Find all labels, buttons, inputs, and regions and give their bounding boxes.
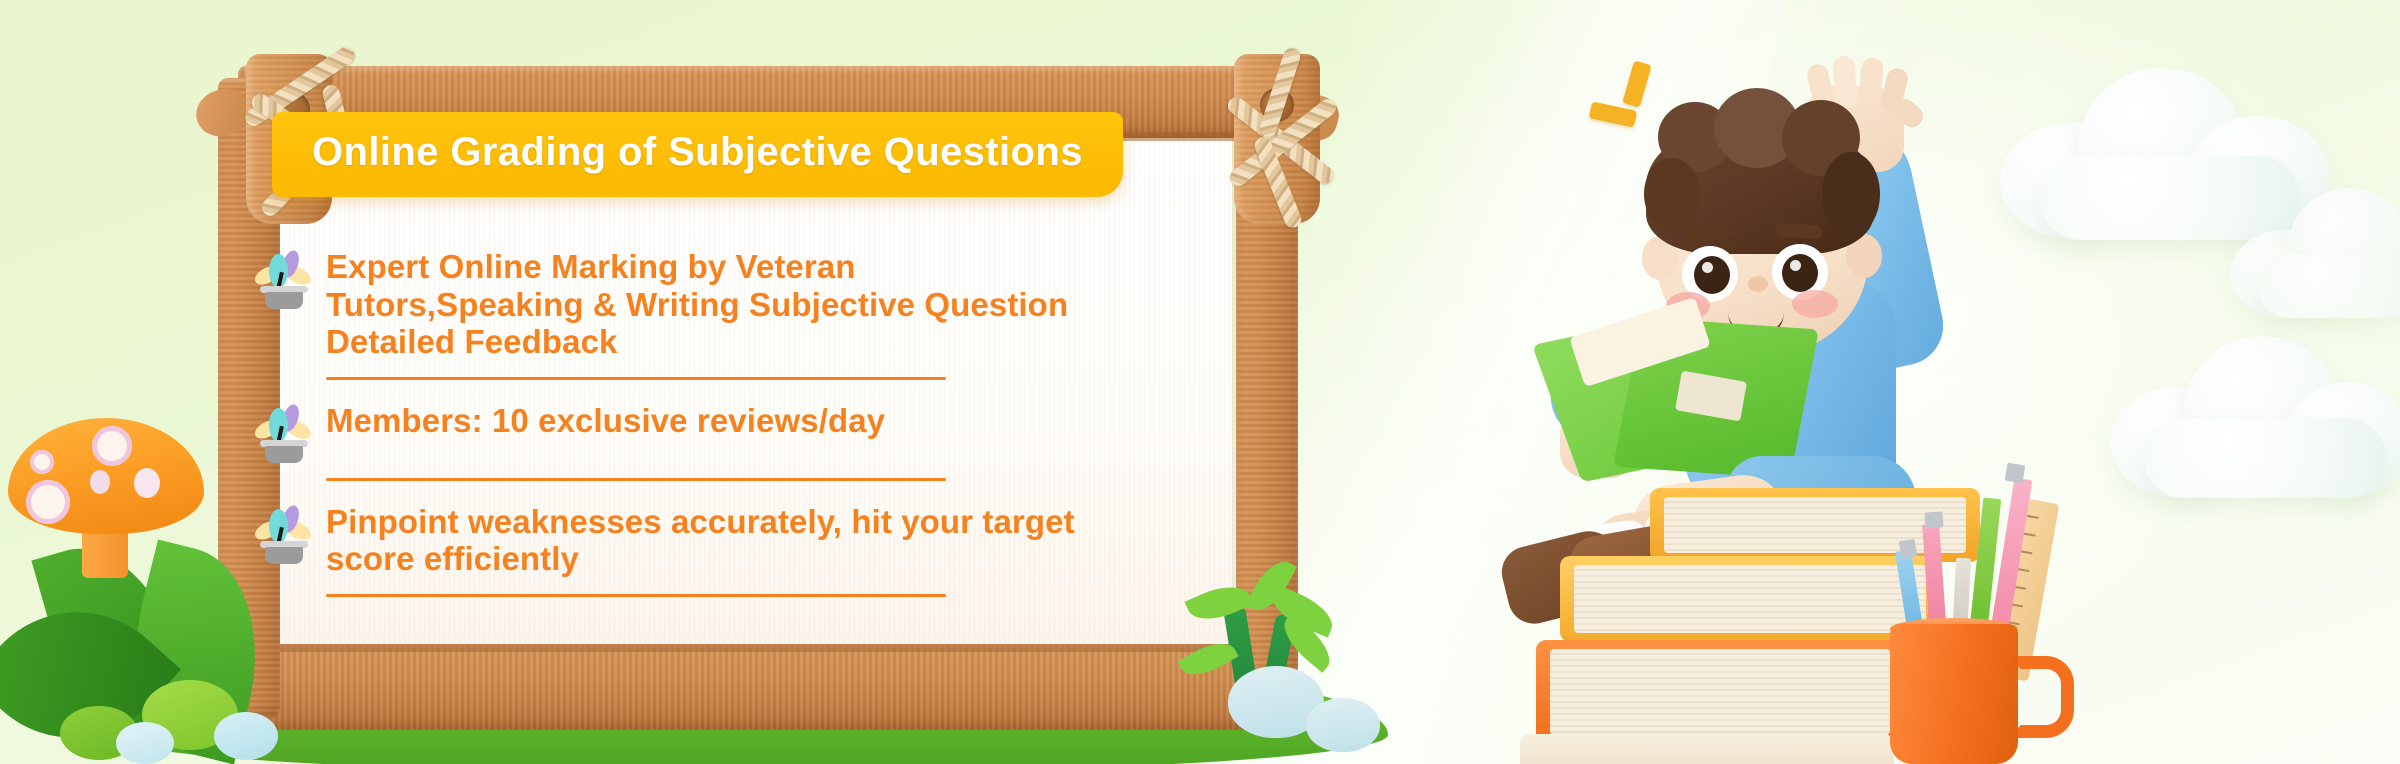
cloud-icon [2230, 188, 2400, 318]
feature-text: Expert Online Marking by Veteran Tutors,… [326, 246, 1086, 361]
pupil [1782, 254, 1818, 292]
feature-item[interactable]: Members: 10 exclusive reviews/day [256, 400, 1136, 462]
feature-item[interactable]: Pinpoint weaknesses accurately, hit your… [256, 501, 1136, 578]
board-frame: Online Grading of Subjective Questions E… [190, 48, 1310, 720]
book-bottom [1536, 640, 1904, 744]
pebble [214, 712, 278, 760]
feature-divider [326, 377, 946, 380]
cloud-icon [2110, 330, 2400, 500]
hair-side [1644, 158, 1700, 230]
potted-plant-icon [256, 400, 312, 462]
cloud-icon [2000, 60, 2330, 240]
blush [1792, 290, 1838, 318]
finger [1832, 55, 1858, 108]
feature-divider [326, 594, 946, 597]
promo-banner: Online Grading of Subjective Questions E… [0, 0, 2400, 764]
feature-text: Members: 10 exclusive reviews/day [326, 400, 885, 440]
frame-plank-bottom [230, 644, 1286, 730]
banner-title-chip: Online Grading of Subjective Questions [272, 112, 1123, 197]
potted-plant-icon [256, 501, 312, 563]
potted-plant-icon [256, 246, 312, 308]
nose [1748, 276, 1768, 292]
pebble [116, 722, 174, 764]
sparkle-icon [1589, 101, 1638, 127]
pupil [1694, 256, 1730, 294]
hair-side [1822, 152, 1880, 236]
feature-item[interactable]: Expert Online Marking by Veteran Tutors,… [256, 246, 1136, 361]
feature-divider [326, 478, 946, 481]
sparkle-icon [1622, 60, 1651, 107]
feature-text: Pinpoint weaknesses accurately, hit your… [326, 501, 1086, 578]
feature-list: Expert Online Marking by Veteran Tutors,… [256, 246, 1136, 617]
mushroom-icon [8, 418, 204, 568]
stone [1306, 698, 1380, 752]
pencil-ferrule [2005, 463, 2026, 484]
eye-highlight [1702, 262, 1713, 273]
book-stack [1500, 480, 1930, 764]
eye-highlight [1790, 260, 1801, 271]
pencil-mug [1880, 598, 2050, 764]
book-base [1520, 734, 1894, 764]
banner-title: Online Grading of Subjective Questions [312, 130, 1083, 175]
frame-plank-bottom-shadow [230, 644, 1286, 652]
pencil-ferrule [1924, 511, 1943, 528]
pencil-ferrule [1899, 539, 1918, 559]
